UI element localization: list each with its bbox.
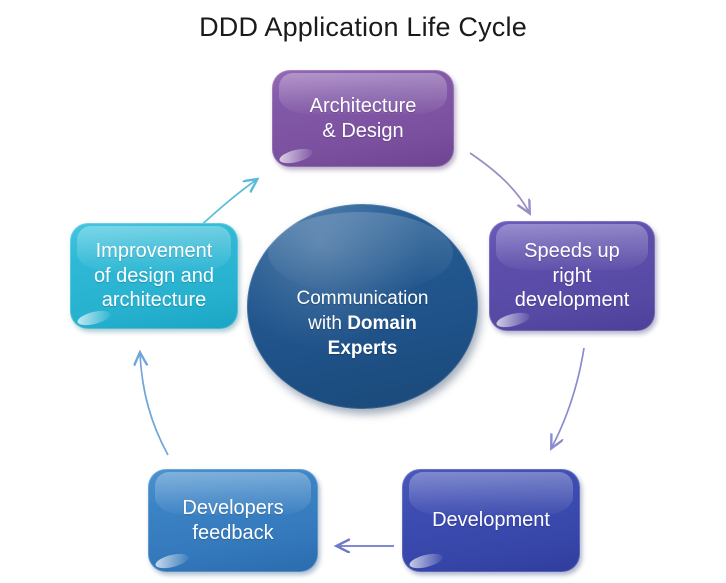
node-improvement-of-design-and-architecture-label: Improvementof design andarchitecture — [94, 239, 214, 312]
node-development-label: Development — [432, 508, 550, 532]
hub-line-1: Communication — [268, 286, 458, 311]
arrow-feedback-to-improvement — [140, 354, 168, 455]
node-improvement-of-design-and-architecture[interactable]: Improvementof design andarchitecture — [70, 223, 238, 329]
hub-line-2: with Domain — [268, 311, 458, 336]
node-architecture-and-design-label: Architecture& Design — [310, 94, 417, 143]
hub-line-2-prefix: with — [308, 313, 347, 334]
node-architecture-and-design[interactable]: Architecture& Design — [272, 70, 454, 167]
communication-hub-label: Communication with Domain Experts — [268, 286, 458, 361]
arrow-speeds-to-development — [552, 348, 584, 447]
node-development[interactable]: Development — [402, 469, 580, 572]
hub-line-2-strong: Domain — [347, 313, 417, 334]
node-developers-feedback-label: Developersfeedback — [182, 496, 283, 545]
hub-line-3: Experts — [268, 336, 458, 361]
node-developers-feedback[interactable]: Developersfeedback — [148, 469, 318, 572]
node-speeds-up-right-development-label: Speeds uprightdevelopment — [515, 239, 630, 312]
diagram-canvas: DDD Application Life Cycle — [0, 0, 726, 583]
arrow-architecture-to-speeds — [470, 153, 529, 212]
node-speeds-up-right-development[interactable]: Speeds uprightdevelopment — [489, 221, 655, 331]
communication-hub[interactable]: Communication with Domain Experts — [247, 204, 478, 409]
